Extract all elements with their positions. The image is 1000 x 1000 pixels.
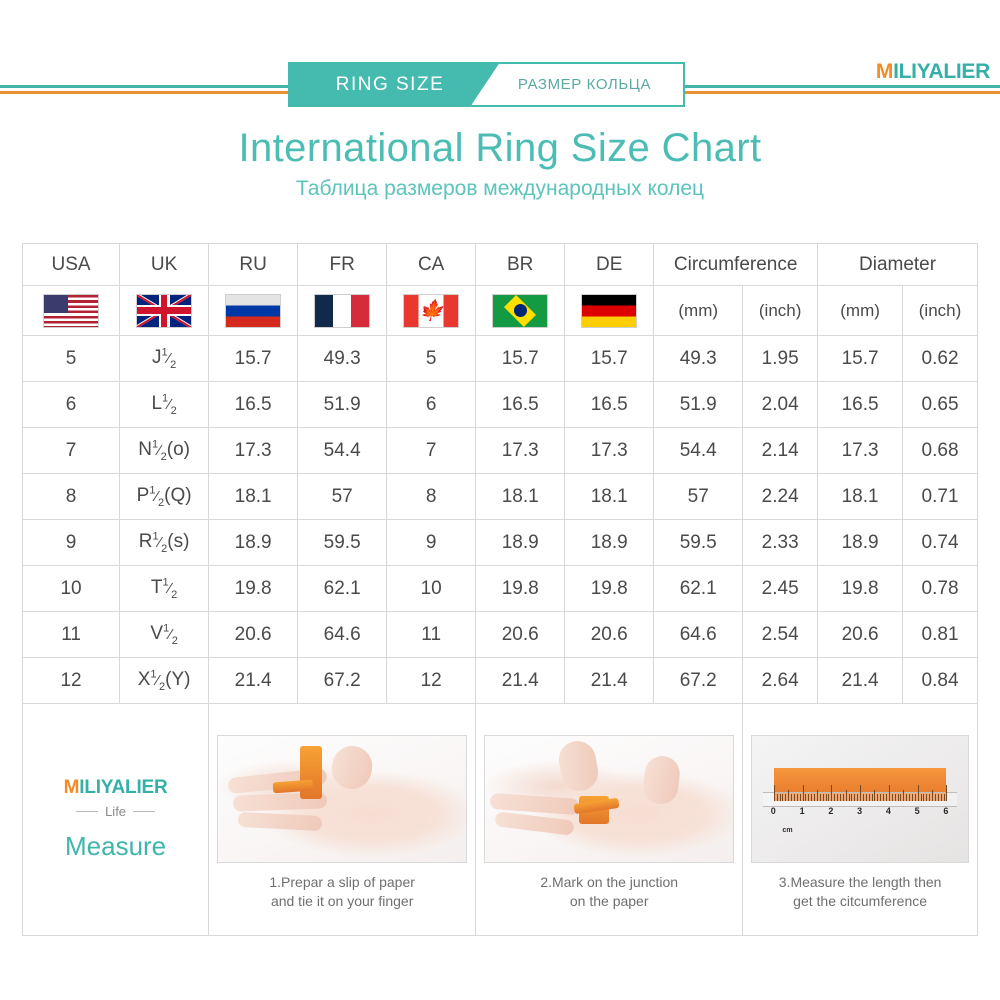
cell-ca: 11 [387, 612, 476, 658]
cell-de: 16.5 [565, 382, 654, 428]
cell-br: 17.3 [476, 428, 565, 474]
table-row: 9R1⁄2(s)18.959.5918.918.959.52.3318.90.7… [23, 520, 978, 566]
cell-ru: 18.1 [209, 474, 298, 520]
measure-logo: MILIYALIER [64, 777, 168, 799]
unit-diameter-inch: (inch) [903, 286, 978, 336]
flag-canada-icon: 🍁 [403, 294, 459, 328]
cell-circumference-mm: 54.4 [654, 428, 743, 474]
cell-fr: 49.3 [298, 336, 387, 382]
measure-section: MILIYALIER Life Measure [23, 704, 978, 936]
cell-fr: 62.1 [298, 566, 387, 612]
cell-uk: N1⁄2(o) [120, 428, 209, 474]
ruler-mark: 6 [943, 806, 948, 816]
measure-heading: Measure [65, 831, 166, 862]
flag-russia-icon [225, 294, 281, 328]
flag-cell-uk [120, 286, 209, 336]
cell-ca: 8 [387, 474, 476, 520]
unit-circumference-inch: (inch) [743, 286, 818, 336]
cell-circumference-inch: 2.33 [743, 520, 818, 566]
cell-diameter-mm: 16.5 [818, 382, 903, 428]
cell-diameter-mm: 18.1 [818, 474, 903, 520]
cell-circumference-inch: 2.64 [743, 658, 818, 704]
step-3-caption: 3.Measure the length then get the citcum… [751, 873, 969, 911]
cell-diameter-mm: 19.8 [818, 566, 903, 612]
table-row: 12X1⁄2(Y)21.467.21221.421.467.22.6421.40… [23, 658, 978, 704]
step-1-caption-line1: 1.Prepar a slip of paper [269, 874, 415, 890]
cell-circumference-mm: 59.5 [654, 520, 743, 566]
cell-diameter-inch: 0.84 [903, 658, 978, 704]
cell-uk: T1⁄2 [120, 566, 209, 612]
cell-diameter-inch: 0.62 [903, 336, 978, 382]
cell-uk: P1⁄2(Q) [120, 474, 209, 520]
uk-size-fraction: P1⁄2(Q) [137, 485, 192, 506]
uk-size-fraction: J1⁄2 [152, 347, 176, 368]
cell-de: 21.4 [565, 658, 654, 704]
cell-de: 18.9 [565, 520, 654, 566]
cell-diameter-inch: 0.78 [903, 566, 978, 612]
title-block: International Ring Size Chart Таблица ра… [0, 126, 1000, 201]
top-banner: RING SIZE РАЗМЕР КОЛЬЦА MILIYALIER [0, 0, 1000, 118]
col-header-ca: CA [387, 244, 476, 286]
cell-fr: 54.4 [298, 428, 387, 474]
measure-life-label: Life [105, 804, 126, 819]
step-2-caption-line2: on the paper [570, 893, 649, 909]
measure-logo-initial: M [64, 777, 80, 798]
table-row: 7N1⁄2(o)17.354.4717.317.354.42.1417.30.6… [23, 428, 978, 474]
uk-size-fraction: V1⁄2 [150, 623, 177, 644]
cell-ru: 20.6 [209, 612, 298, 658]
flag-cell-usa [23, 286, 120, 336]
cell-diameter-inch: 0.71 [903, 474, 978, 520]
cell-br: 19.8 [476, 566, 565, 612]
cell-de: 17.3 [565, 428, 654, 474]
brand-logo: MILIYALIER [876, 60, 990, 84]
cell-br: 16.5 [476, 382, 565, 428]
cell-br: 18.1 [476, 474, 565, 520]
uk-size-fraction: T1⁄2 [151, 577, 177, 598]
step-3-caption-line1: 3.Measure the length then [779, 874, 942, 890]
flag-cell-fr [298, 286, 387, 336]
cell-ru: 21.4 [209, 658, 298, 704]
flag-cell-ru [209, 286, 298, 336]
cell-usa: 6 [23, 382, 120, 428]
measure-logo-text: ILIYALIER [79, 777, 167, 798]
cell-ru: 16.5 [209, 382, 298, 428]
ruler-unit-label: cm [782, 827, 792, 834]
step-1-caption-line2: and tie it on your finger [271, 893, 413, 909]
step-3-caption-line2: get the citcumference [793, 893, 927, 909]
col-header-fr: FR [298, 244, 387, 286]
cell-circumference-inch: 2.24 [743, 474, 818, 520]
table-row: 8P1⁄2(Q)18.157818.118.1572.2418.10.71 [23, 474, 978, 520]
step-2-photo [484, 735, 734, 863]
cell-de: 19.8 [565, 566, 654, 612]
cell-circumference-inch: 2.54 [743, 612, 818, 658]
flag-uk-icon [136, 294, 192, 328]
cell-ca: 9 [387, 520, 476, 566]
col-header-diameter: Diameter [818, 244, 978, 286]
cell-ru: 17.3 [209, 428, 298, 474]
cell-uk: R1⁄2(s) [120, 520, 209, 566]
cell-br: 18.9 [476, 520, 565, 566]
step-3-photo: 0123456 cm [751, 735, 969, 863]
flag-cell-de [565, 286, 654, 336]
cell-usa: 9 [23, 520, 120, 566]
bottom-instructions-row: MILIYALIER Life Measure [23, 704, 978, 936]
table-header-flags-units: 🍁 (mm) (inch) (mm) (inch) [23, 286, 978, 336]
cell-circumference-inch: 1.95 [743, 336, 818, 382]
cell-br: 15.7 [476, 336, 565, 382]
page-title: International Ring Size Chart [0, 126, 1000, 171]
cell-usa: 7 [23, 428, 120, 474]
cell-ru: 19.8 [209, 566, 298, 612]
step-2-caption-line1: 2.Mark on the junction [540, 874, 678, 890]
uk-size-fraction: X1⁄2(Y) [138, 669, 191, 690]
cell-usa: 8 [23, 474, 120, 520]
cell-diameter-inch: 0.65 [903, 382, 978, 428]
table-row: 6L1⁄216.551.9616.516.551.92.0416.50.65 [23, 382, 978, 428]
tagline-dash-right [133, 811, 155, 812]
cell-fr: 59.5 [298, 520, 387, 566]
ruler-mark: 1 [800, 806, 805, 816]
cell-usa: 5 [23, 336, 120, 382]
cell-de: 20.6 [565, 612, 654, 658]
cell-diameter-inch: 0.74 [903, 520, 978, 566]
step-1-photo [217, 735, 467, 863]
step-1-caption: 1.Prepar a slip of paper and tie it on y… [217, 873, 467, 911]
cell-ca: 5 [387, 336, 476, 382]
table-row: 11V1⁄220.664.61120.620.664.62.5420.60.81 [23, 612, 978, 658]
cell-diameter-mm: 15.7 [818, 336, 903, 382]
cell-diameter-mm: 20.6 [818, 612, 903, 658]
cell-circumference-mm: 64.6 [654, 612, 743, 658]
cell-ca: 6 [387, 382, 476, 428]
col-header-de: DE [565, 244, 654, 286]
cell-fr: 51.9 [298, 382, 387, 428]
unit-diameter-mm: (mm) [818, 286, 903, 336]
ruler-mark: 2 [828, 806, 833, 816]
cell-de: 15.7 [565, 336, 654, 382]
ruler-mark: 0 [771, 806, 776, 816]
cell-usa: 12 [23, 658, 120, 704]
cell-circumference-inch: 2.45 [743, 566, 818, 612]
cell-uk: L1⁄2 [120, 382, 209, 428]
col-header-ru: RU [209, 244, 298, 286]
cell-uk: V1⁄2 [120, 612, 209, 658]
measure-brand-cell: MILIYALIER Life Measure [23, 704, 209, 936]
step-3-cell: 0123456 cm 3.Measure the length then get… [743, 704, 978, 936]
cell-ca: 7 [387, 428, 476, 474]
tagline-dash-left [76, 811, 98, 812]
cell-ru: 18.9 [209, 520, 298, 566]
measure-life-tagline: Life [76, 804, 155, 819]
brand-logo-text: ILIYALIER [893, 60, 990, 83]
uk-size-fraction: N1⁄2(o) [138, 439, 190, 460]
cell-circumference-mm: 57 [654, 474, 743, 520]
unit-circumference-mm: (mm) [654, 286, 743, 336]
uk-size-fraction: L1⁄2 [151, 393, 176, 414]
cell-usa: 11 [23, 612, 120, 658]
tab-ring-size-en-label: RING SIZE [336, 74, 445, 96]
cell-diameter-inch: 0.68 [903, 428, 978, 474]
cell-diameter-mm: 21.4 [818, 658, 903, 704]
cell-de: 18.1 [565, 474, 654, 520]
ring-size-table-wrap: USA UK RU FR CA BR DE Circumference Diam… [22, 243, 978, 936]
flag-cell-ca: 🍁 [387, 286, 476, 336]
cell-ca: 12 [387, 658, 476, 704]
cell-uk: J1⁄2 [120, 336, 209, 382]
brand-logo-initial: M [876, 60, 893, 83]
cell-diameter-mm: 18.9 [818, 520, 903, 566]
ruler-mark: 5 [915, 806, 920, 816]
cell-br: 21.4 [476, 658, 565, 704]
cell-circumference-mm: 51.9 [654, 382, 743, 428]
table-row: 10T1⁄219.862.11019.819.862.12.4519.80.78 [23, 566, 978, 612]
ruler-mark: 4 [886, 806, 891, 816]
table-row: 5J1⁄215.749.3515.715.749.31.9515.70.62 [23, 336, 978, 382]
uk-size-fraction: R1⁄2(s) [139, 531, 190, 552]
col-header-uk: UK [120, 244, 209, 286]
cell-ca: 10 [387, 566, 476, 612]
cell-fr: 64.6 [298, 612, 387, 658]
flag-france-icon [314, 294, 370, 328]
flag-germany-icon [581, 294, 637, 328]
cell-circumference-inch: 2.14 [743, 428, 818, 474]
cell-circumference-inch: 2.04 [743, 382, 818, 428]
flag-brazil-icon [492, 294, 548, 328]
cell-br: 20.6 [476, 612, 565, 658]
step-2-cell: 2.Mark on the junction on the paper [476, 704, 743, 936]
tab-ring-size-ru[interactable]: РАЗМЕР КОЛЬЦА [470, 62, 685, 107]
cell-fr: 67.2 [298, 658, 387, 704]
col-header-circumference: Circumference [654, 244, 818, 286]
step-2-caption: 2.Mark on the junction on the paper [484, 873, 734, 911]
ring-size-table: USA UK RU FR CA BR DE Circumference Diam… [22, 243, 978, 936]
col-header-br: BR [476, 244, 565, 286]
cell-diameter-inch: 0.81 [903, 612, 978, 658]
ruler-mark: 3 [857, 806, 862, 816]
table-header-names: USA UK RU FR CA BR DE Circumference Diam… [23, 244, 978, 286]
tab-ring-size-ru-label: РАЗМЕР КОЛЬЦА [518, 76, 651, 93]
col-header-usa: USA [23, 244, 120, 286]
cell-circumference-mm: 67.2 [654, 658, 743, 704]
flag-cell-br [476, 286, 565, 336]
cell-ru: 15.7 [209, 336, 298, 382]
cell-usa: 10 [23, 566, 120, 612]
step-1-cell: 1.Prepar a slip of paper and tie it on y… [209, 704, 476, 936]
flag-usa-icon [43, 294, 99, 328]
cell-diameter-mm: 17.3 [818, 428, 903, 474]
page-subtitle: Таблица размеров международных колец [0, 177, 1000, 201]
table-body: 5J1⁄215.749.3515.715.749.31.9515.70.626L… [23, 336, 978, 704]
cell-circumference-mm: 62.1 [654, 566, 743, 612]
cell-fr: 57 [298, 474, 387, 520]
cell-uk: X1⁄2(Y) [120, 658, 209, 704]
cell-circumference-mm: 49.3 [654, 336, 743, 382]
